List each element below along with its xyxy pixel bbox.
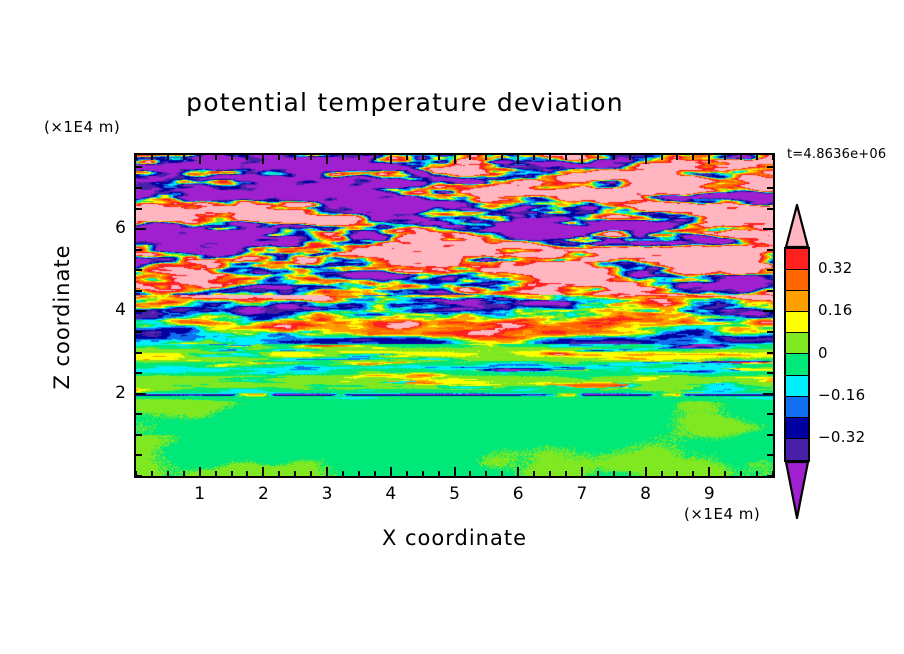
colorbar-band	[786, 333, 808, 354]
y-axis-minor-tick-right	[767, 269, 773, 271]
x-axis-minor-tick	[661, 471, 663, 476]
x-axis-minor-tick-top	[469, 155, 471, 160]
x-axis-minor-tick	[549, 471, 551, 476]
x-axis-tick-label: 9	[694, 484, 724, 504]
x-axis-tick-label: 5	[440, 484, 470, 504]
x-axis-title: X coordinate	[134, 526, 775, 550]
x-axis-tick	[645, 467, 647, 476]
x-axis-tick	[517, 467, 519, 476]
time-annotation: t=4.8636e+06	[787, 147, 886, 162]
x-axis-minor-tick	[565, 471, 567, 476]
colorbar-tick-label: 0	[818, 344, 828, 362]
colorbar-band	[786, 439, 808, 460]
x-axis-minor-tick-top	[772, 155, 774, 160]
x-axis-minor-tick	[501, 471, 503, 476]
y-axis-minor-tick-right	[767, 208, 773, 210]
x-axis-tick	[262, 467, 264, 476]
x-axis-minor-tick-top	[151, 155, 153, 160]
y-axis-minor-tick	[136, 475, 142, 477]
y-axis-minor-tick-right	[767, 290, 773, 292]
x-axis-minor-tick	[533, 471, 535, 476]
colorbar-tick-label: 0.16	[818, 301, 853, 319]
x-axis-tick	[581, 467, 583, 476]
y-axis-tick	[136, 393, 146, 395]
x-axis-minor-tick	[469, 471, 471, 476]
x-axis-minor-tick-top	[374, 155, 376, 160]
y-axis-tick-right	[763, 393, 773, 395]
x-axis-minor-tick	[422, 471, 424, 476]
x-axis-tick	[390, 467, 392, 476]
x-axis-tick	[708, 467, 710, 476]
x-axis-minor-tick-top	[501, 155, 503, 160]
x-axis-minor-tick-top	[549, 155, 551, 160]
x-axis-minor-tick-top	[135, 155, 137, 160]
x-axis-minor-tick-top	[358, 155, 360, 160]
colorbar-band	[786, 376, 808, 397]
x-axis-minor-tick-top	[597, 155, 599, 160]
x-axis-minor-tick	[724, 471, 726, 476]
x-axis-minor-tick-top	[676, 155, 678, 160]
x-axis-minor-tick	[374, 471, 376, 476]
x-axis-minor-tick-top	[183, 155, 185, 160]
x-axis-minor-tick-top	[422, 155, 424, 160]
x-axis-minor-tick	[756, 471, 758, 476]
x-axis-minor-tick	[740, 471, 742, 476]
y-axis-minor-tick	[136, 290, 142, 292]
x-axis-minor-tick-top	[438, 155, 440, 160]
colorbar-band	[786, 418, 808, 439]
x-axis-minor-tick	[485, 471, 487, 476]
x-axis-tick	[199, 467, 201, 476]
x-axis-minor-tick-top	[294, 155, 296, 160]
x-axis-tick-label: 3	[312, 484, 342, 504]
x-axis-tick-top	[581, 155, 583, 164]
x-axis-unit-label: (×1E4 m)	[684, 505, 760, 523]
x-axis-tick-top	[199, 155, 201, 164]
y-axis-minor-tick-right	[767, 475, 773, 477]
x-axis-tick-top	[262, 155, 264, 164]
contour-plot-area[interactable]	[134, 153, 775, 478]
y-axis-minor-tick-right	[767, 372, 773, 374]
y-axis-minor-tick-right	[767, 187, 773, 189]
colorbar-band	[786, 291, 808, 312]
x-axis-minor-tick-top	[278, 155, 280, 160]
x-axis-minor-tick-top	[613, 155, 615, 160]
x-axis-minor-tick-top	[740, 155, 742, 160]
y-axis-tick	[136, 228, 146, 230]
colorbar-band	[786, 312, 808, 333]
y-axis-minor-tick-right	[767, 352, 773, 354]
x-axis-tick-top	[708, 155, 710, 164]
x-axis-minor-tick-top	[756, 155, 758, 160]
y-axis-tick-right	[763, 310, 773, 312]
x-axis-minor-tick-top	[215, 155, 217, 160]
y-axis-minor-tick	[136, 352, 142, 354]
x-axis-minor-tick	[613, 471, 615, 476]
x-axis-minor-tick	[438, 471, 440, 476]
y-axis-minor-tick-right	[767, 413, 773, 415]
x-axis-minor-tick	[676, 471, 678, 476]
x-axis-minor-tick	[294, 471, 296, 476]
x-axis-minor-tick	[167, 471, 169, 476]
y-axis-tick	[136, 310, 146, 312]
x-axis-minor-tick-top	[629, 155, 631, 160]
x-axis-tick-label: 8	[631, 484, 661, 504]
x-axis-minor-tick	[406, 471, 408, 476]
x-axis-minor-tick	[358, 471, 360, 476]
y-axis-minor-tick-right	[767, 249, 773, 251]
x-axis-tick-top	[326, 155, 328, 164]
y-axis-minor-tick-right	[767, 331, 773, 333]
x-axis-tick-top	[390, 155, 392, 164]
y-axis-tick-right	[763, 228, 773, 230]
colorbar-tick-label: 0.32	[818, 259, 853, 277]
x-axis-minor-tick-top	[533, 155, 535, 160]
colorbar[interactable]	[784, 247, 810, 462]
x-axis-minor-tick-top	[565, 155, 567, 160]
y-axis-minor-tick	[136, 269, 142, 271]
page-title: potential temperature deviation	[0, 88, 810, 117]
x-axis-tick	[454, 467, 456, 476]
x-axis-minor-tick-top	[485, 155, 487, 160]
x-axis-minor-tick-top	[692, 155, 694, 160]
y-axis-unit-label: (×1E4 m)	[44, 118, 120, 136]
y-axis-minor-tick	[136, 454, 142, 456]
y-axis-tick-label: 6	[100, 218, 126, 238]
colorbar-band	[786, 354, 808, 375]
x-axis-minor-tick-top	[661, 155, 663, 160]
x-axis-tick	[326, 467, 328, 476]
y-axis-minor-tick	[136, 434, 142, 436]
x-axis-tick-top	[454, 155, 456, 164]
x-axis-minor-tick	[597, 471, 599, 476]
x-axis-minor-tick-top	[310, 155, 312, 160]
x-axis-tick-label: 6	[503, 484, 533, 504]
x-axis-minor-tick	[183, 471, 185, 476]
y-axis-minor-tick	[136, 413, 142, 415]
colorbar-tick-label: −0.32	[818, 428, 865, 446]
x-axis-tick-top	[645, 155, 647, 164]
y-axis-tick-label: 2	[100, 383, 126, 403]
x-axis-minor-tick	[151, 471, 153, 476]
x-axis-minor-tick	[692, 471, 694, 476]
x-axis-minor-tick-top	[231, 155, 233, 160]
y-axis-minor-tick	[136, 249, 142, 251]
colorbar-band	[786, 270, 808, 291]
y-axis-minor-tick	[136, 331, 142, 333]
x-axis-minor-tick-top	[246, 155, 248, 160]
y-axis-minor-tick-right	[767, 166, 773, 168]
x-axis-minor-tick	[215, 471, 217, 476]
y-axis-tick-label: 4	[100, 300, 126, 320]
x-axis-tick-label: 2	[248, 484, 278, 504]
x-axis-minor-tick	[246, 471, 248, 476]
x-axis-minor-tick	[278, 471, 280, 476]
scalar-field-canvas	[136, 155, 773, 476]
y-axis-minor-tick	[136, 208, 142, 210]
x-axis-minor-tick-top	[342, 155, 344, 160]
y-axis-minor-tick	[136, 372, 142, 374]
x-axis-minor-tick	[231, 471, 233, 476]
y-axis-minor-tick-right	[767, 434, 773, 436]
y-axis-minor-tick	[136, 187, 142, 189]
x-axis-tick-label: 4	[376, 484, 406, 504]
x-axis-minor-tick-top	[406, 155, 408, 160]
colorbar-tick-label: −0.16	[818, 386, 865, 404]
x-axis-minor-tick	[310, 471, 312, 476]
x-axis-tick-label: 7	[567, 484, 597, 504]
y-axis-title: Z coordinate	[50, 227, 74, 407]
x-axis-tick-label: 1	[185, 484, 215, 504]
x-axis-minor-tick-top	[724, 155, 726, 160]
colorbar-band	[786, 249, 808, 270]
x-axis-minor-tick-top	[167, 155, 169, 160]
x-axis-tick-top	[517, 155, 519, 164]
y-axis-minor-tick-right	[767, 454, 773, 456]
x-axis-minor-tick	[342, 471, 344, 476]
y-axis-minor-tick	[136, 166, 142, 168]
colorbar-band	[786, 397, 808, 418]
x-axis-minor-tick	[629, 471, 631, 476]
